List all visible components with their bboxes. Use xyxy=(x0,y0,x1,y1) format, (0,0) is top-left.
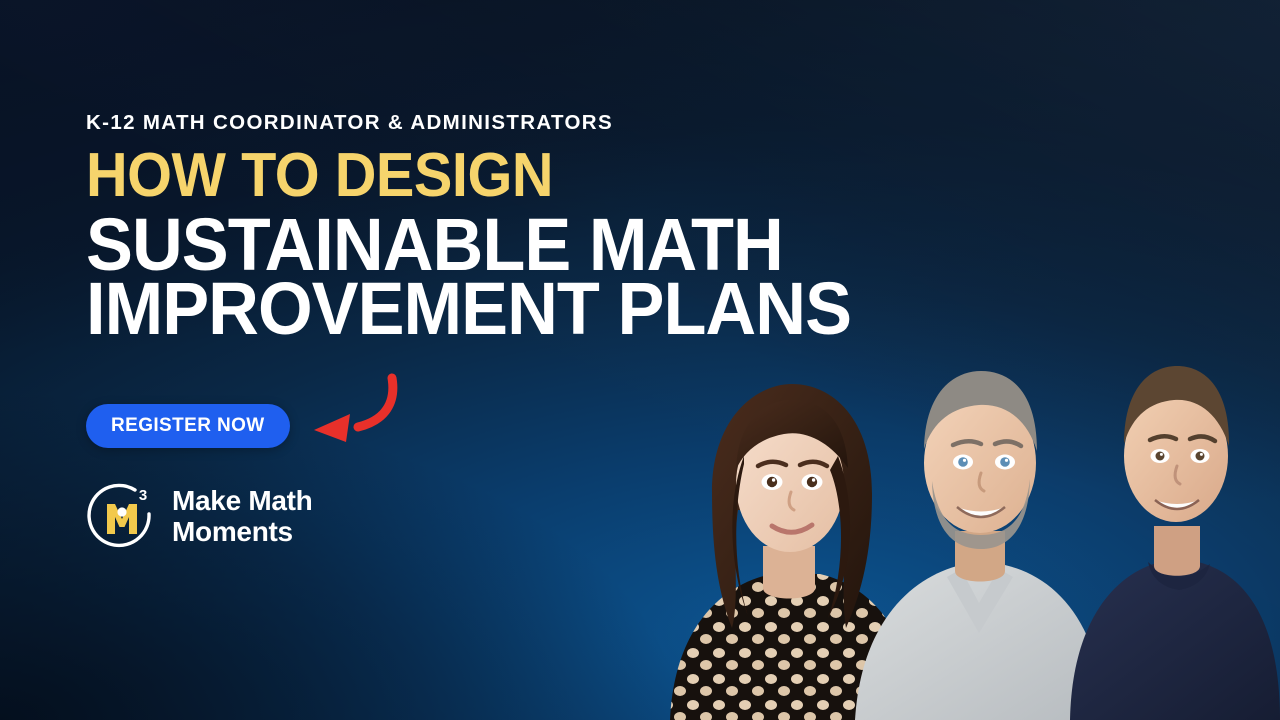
make-math-moments-mark-icon: 3 xyxy=(86,481,158,553)
eyebrow-text: K-12 MATH COORDINATOR & ADMINISTRATORS xyxy=(86,112,1086,135)
presenter-man-right xyxy=(1070,330,1280,720)
brand-name-line-two: Moments xyxy=(172,517,312,548)
headline-accent-line: HOW TO DESIGN xyxy=(86,146,1016,206)
headline-line-two: IMPROVEMENT PLANS xyxy=(86,275,1036,343)
register-now-button[interactable]: REGISTER NOW xyxy=(86,404,290,448)
headline-block: K-12 MATH COORDINATOR & ADMINISTRATORS H… xyxy=(86,112,1086,343)
cta-row: REGISTER NOW xyxy=(86,404,290,448)
brand-wordmark: Make Math Moments xyxy=(172,486,312,548)
presenter-photos xyxy=(640,290,1280,720)
svg-text:3: 3 xyxy=(139,487,147,504)
promo-banner: K-12 MATH COORDINATOR & ADMINISTRATORS H… xyxy=(0,0,1280,720)
presenter-man-center xyxy=(855,345,1105,720)
brand-logo: 3 Make Math Moments xyxy=(86,481,312,553)
brand-name-line-one: Make Math xyxy=(172,486,312,517)
